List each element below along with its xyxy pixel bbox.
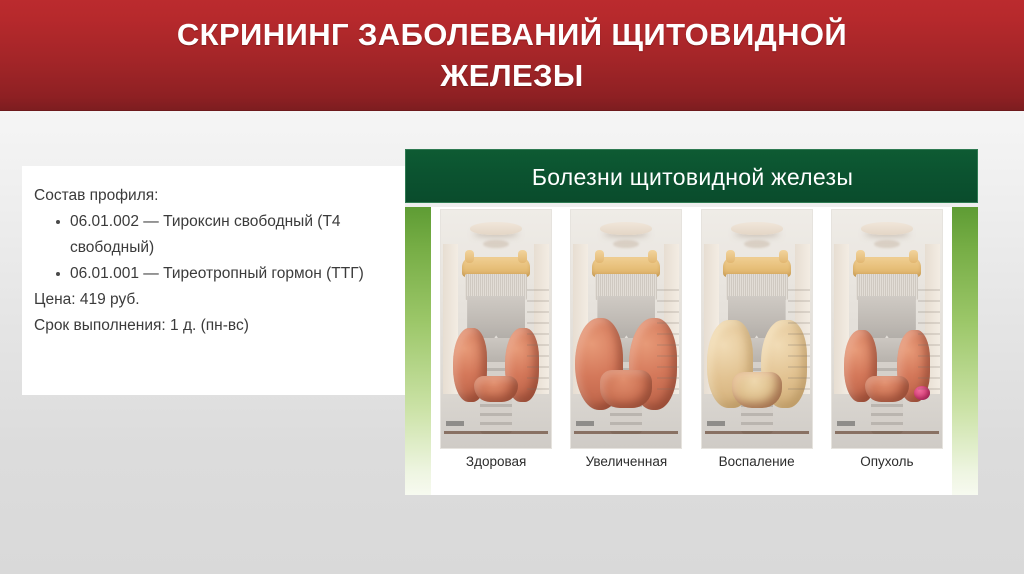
- list-item: 06.01.002 — Тироксин свободный (Т4 свобо…: [56, 209, 397, 261]
- thyroid-diseases-figure: Болезни щитовидной железы: [405, 149, 978, 495]
- specimen-caption: Опухоль: [860, 454, 913, 469]
- specimen-strip: Здоровая: [431, 207, 952, 495]
- thyroid-isthmus: [600, 370, 652, 408]
- model-base-bar: [835, 431, 939, 434]
- photo-watermark: [707, 421, 725, 426]
- thyroid-model-photo: [701, 209, 813, 449]
- chin-shape: [600, 222, 652, 235]
- model-base-bar: [574, 431, 678, 434]
- profile-price: Цена: 419 руб.: [34, 287, 397, 313]
- thyroid-isthmus: [865, 376, 909, 402]
- specimen-caption: Воспаление: [719, 454, 795, 469]
- figure-body: Здоровая: [405, 207, 978, 495]
- neck-shadow: [744, 240, 770, 248]
- specimen-tumour: Опухоль: [822, 207, 952, 495]
- neck-shadow: [874, 240, 900, 248]
- profile-info-content: Состав профиля: 06.01.002 — Тироксин сво…: [34, 183, 397, 339]
- chin-shape: [470, 222, 522, 235]
- thyroid-model-photo: [440, 209, 552, 449]
- profile-test-list: 06.01.002 — Тироксин свободный (Т4 свобо…: [34, 209, 397, 287]
- list-item: 06.01.001 — Тиреотропный гормон (ТТГ): [56, 261, 397, 287]
- specimen-enlarged: Увеличенная: [561, 207, 691, 495]
- figure-title: Болезни щитовидной железы: [406, 150, 979, 204]
- figure-left-green-edge: [405, 207, 431, 495]
- specimen-healthy: Здоровая: [431, 207, 561, 495]
- chin-shape: [861, 222, 913, 235]
- photo-watermark: [446, 421, 464, 426]
- chin-shape: [731, 222, 783, 235]
- specimen-inflamed: Воспаление: [692, 207, 822, 495]
- thyroid-isthmus: [474, 376, 518, 402]
- profile-composition-heading: Состав профиля:: [34, 183, 397, 209]
- profile-turnaround: Срок выполнения: 1 д. (пн-вс): [34, 313, 397, 339]
- profile-info-card: Состав профиля: 06.01.002 — Тироксин сво…: [22, 166, 405, 395]
- page-title: СКРИНИНГ ЗАБОЛЕВАНИЙ ЩИТОВИДНОЙ ЖЕЛЕЗЫ: [60, 14, 964, 96]
- anatomy-label-lines: [527, 280, 549, 390]
- figure-header-bar: Болезни щитовидной железы: [405, 149, 978, 203]
- thyroid-isthmus: [732, 372, 782, 408]
- specimen-caption: Увеличенная: [586, 454, 668, 469]
- neck-shadow: [613, 240, 639, 248]
- anatomy-label-lines: [918, 280, 940, 390]
- anatomy-label-lines: [788, 280, 810, 390]
- thyroid-model-photo: [570, 209, 682, 449]
- neck-shadow: [483, 240, 509, 248]
- header-band: СКРИНИНГ ЗАБОЛЕВАНИЙ ЩИТОВИДНОЙ ЖЕЛЕЗЫ: [0, 0, 1024, 111]
- thyroid-model-photo: [831, 209, 943, 449]
- figure-right-green-edge: [952, 207, 978, 495]
- photo-watermark: [837, 421, 855, 426]
- anatomy-label-lines: [657, 280, 679, 390]
- photo-watermark: [576, 421, 594, 426]
- specimen-caption: Здоровая: [466, 454, 526, 469]
- model-base-bar: [444, 431, 548, 434]
- model-base-bar: [705, 431, 809, 434]
- slide-canvas: СКРИНИНГ ЗАБОЛЕВАНИЙ ЩИТОВИДНОЙ ЖЕЛЕЗЫ С…: [0, 0, 1024, 574]
